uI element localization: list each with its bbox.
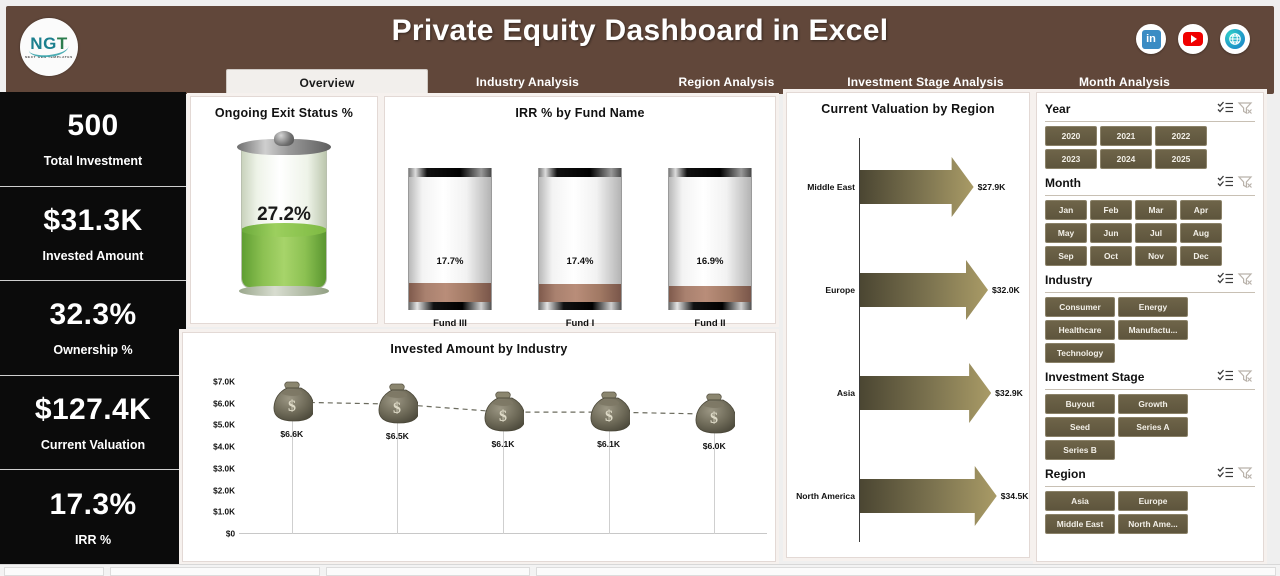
svg-text:$: $ — [710, 410, 718, 427]
kpi-value: $127.4K — [35, 393, 151, 427]
region-value-label: $34.5K — [1001, 491, 1029, 501]
slicer-divider — [1045, 121, 1255, 122]
clear-filter-icon[interactable] — [1237, 369, 1255, 385]
kpi-label: Current Valuation — [41, 438, 145, 452]
chart-irr-by-fund: IRR % by Fund Name 17.7%Fund III17.4%Fun… — [384, 96, 776, 324]
globe-icon — [1225, 29, 1245, 49]
slicer-item[interactable]: Buyout — [1045, 394, 1115, 414]
y-axis-tick-label: $4.0K — [213, 443, 235, 452]
slicer-item[interactable]: Aug — [1180, 223, 1222, 243]
slicer-item[interactable]: Sep — [1045, 246, 1087, 266]
slicer-title: Year — [1045, 102, 1215, 116]
slicer-item[interactable]: 2024 — [1100, 149, 1152, 169]
region-bar-row: North America$34.5K — [787, 447, 1029, 545]
slicer-item[interactable]: Series A — [1118, 417, 1188, 437]
website-button[interactable] — [1220, 24, 1250, 54]
slicer-title: Investment Stage — [1045, 370, 1215, 384]
slicer-item[interactable]: Energy — [1118, 297, 1188, 317]
chart-ongoing-exit-status: Ongoing Exit Status % 27.2% — [190, 96, 378, 324]
strip-cell — [110, 567, 320, 576]
slicer-item[interactable]: Feb — [1090, 200, 1132, 220]
multi-select-icon[interactable] — [1217, 369, 1235, 385]
page-title: Private Equity Dashboard in Excel — [6, 14, 1274, 48]
youtube-button[interactable] — [1178, 24, 1208, 54]
slicer-divider — [1045, 486, 1255, 487]
svg-text:$: $ — [499, 408, 507, 425]
strip-cell — [4, 567, 104, 576]
slicer-item[interactable]: Asia — [1045, 491, 1115, 511]
slicer-item[interactable]: North Ame... — [1118, 514, 1188, 534]
kpi-value: 500 — [67, 109, 118, 143]
region-value-label: $27.9K — [978, 182, 1006, 192]
money-bag-icon: $ — [271, 379, 313, 425]
region-category-label: Middle East — [787, 182, 855, 192]
kpi-ownership-pct: 32.3% Ownership % — [0, 281, 186, 376]
region-arrow-shape — [860, 363, 991, 423]
chart-title: Ongoing Exit Status % — [191, 97, 377, 120]
kpi-total-investment: 500 Total Investment — [0, 92, 186, 187]
chart-title: Invested Amount by Industry — [183, 333, 775, 356]
kpi-label: Total Investment — [44, 154, 142, 168]
data-point-value-label: $6.1K — [492, 439, 515, 449]
region-category-label: Europe — [787, 285, 855, 295]
cylinder-fill — [539, 284, 621, 302]
chart-current-valuation-by-region: Current Valuation by Region Middle East$… — [786, 92, 1030, 558]
slicer-item[interactable]: Jan — [1045, 200, 1087, 220]
kpi-value: 32.3% — [49, 298, 136, 332]
cylinder-top-icon — [669, 168, 751, 177]
slicer-header: Region — [1045, 464, 1255, 484]
slicer-item[interactable]: Technology — [1045, 343, 1115, 363]
money-bag-icon: $ — [376, 381, 418, 427]
slicer-item[interactable]: Dec — [1180, 246, 1222, 266]
dashboard-root: NGT NEXT GEN TEMPLATES Private Equity Da… — [0, 0, 1280, 576]
money-bag-icon: $ — [588, 389, 630, 435]
region-value-label: $32.0K — [992, 285, 1020, 295]
battery-gauge: 27.2% — [191, 120, 377, 296]
cylinder-bar: 17.4%Fund I — [538, 168, 622, 329]
slicer-item[interactable]: Growth — [1118, 394, 1188, 414]
slicer-items: JanFebMarAprMayJunJulAugSepOctNovDec — [1045, 200, 1255, 266]
region-bar-row: Europe$32.0K — [787, 241, 1029, 339]
cylinder-series: 17.7%Fund III17.4%Fund I16.9%Fund II — [385, 168, 775, 329]
cylinder-category-label: Fund II — [668, 318, 752, 329]
cylinder-bottom-icon — [539, 302, 621, 310]
slicer-investment-stage[interactable]: Investment StageBuyoutGrowthSeedSeries A… — [1045, 367, 1255, 460]
kpi-value: $31.3K — [43, 204, 142, 238]
cylinder-top-icon — [539, 168, 621, 177]
data-point-value-label: $6.0K — [703, 441, 726, 451]
tab-overview[interactable]: Overview — [226, 69, 428, 96]
slicer-header: Year — [1045, 99, 1255, 119]
y-axis-tick-label: $1.0K — [213, 508, 235, 517]
linkedin-button[interactable]: in — [1136, 24, 1166, 54]
kpi-column: 500 Total Investment $31.3K Invested Amo… — [0, 92, 186, 564]
slicer-item[interactable]: 2021 — [1100, 126, 1152, 146]
cylinder-fill — [409, 283, 491, 302]
clear-filter-icon[interactable] — [1237, 101, 1255, 117]
y-axis-tick-label: $7.0K — [213, 378, 235, 387]
svg-text:$: $ — [393, 400, 401, 417]
chart-title: IRR % by Fund Name — [385, 97, 775, 120]
multi-select-icon[interactable] — [1217, 466, 1235, 482]
cylinder-shape: 17.7% — [408, 168, 492, 310]
slicer-title: Month — [1045, 176, 1215, 190]
excel-status-strip — [0, 564, 1280, 576]
cylinder-bar: 17.7%Fund III — [408, 168, 492, 329]
slicer-item[interactable]: Mar — [1135, 200, 1177, 220]
y-axis-tick-label: $5.0K — [213, 421, 235, 430]
slicer-item[interactable]: Series B — [1045, 440, 1115, 460]
battery-knob-icon — [274, 131, 294, 146]
svg-text:$: $ — [605, 408, 613, 425]
chart-invested-amount-by-industry: Invested Amount by Industry $0$1.0K$2.0K… — [182, 332, 776, 562]
cylinder-bottom-icon — [409, 302, 491, 310]
slicer-year[interactable]: Year202020212022202320242025 — [1045, 99, 1255, 169]
slicer-items: 202020212022202320242025 — [1045, 126, 1255, 169]
slicer-item[interactable]: Healthcare — [1045, 320, 1115, 340]
slicer-header: Investment Stage — [1045, 367, 1255, 387]
data-point-value-label: $6.1K — [597, 439, 620, 449]
cylinder-value-label: 17.4% — [539, 256, 621, 267]
cylinder-shape: 16.9% — [668, 168, 752, 310]
battery-value-label: 27.2% — [191, 204, 377, 226]
chart-title: Current Valuation by Region — [787, 93, 1029, 116]
clear-filter-icon[interactable] — [1237, 272, 1255, 288]
region-category-label: North America — [787, 491, 855, 501]
y-axis-tick-label: $0 — [226, 530, 235, 539]
slicer-item[interactable]: 2025 — [1155, 149, 1207, 169]
cylinder-bottom-icon — [669, 302, 751, 310]
slicer-title: Region — [1045, 467, 1215, 481]
youtube-icon — [1183, 32, 1203, 46]
slicer-panel[interactable]: Year202020212022202320242025MonthJanFebM… — [1036, 92, 1264, 562]
cylinder-top-icon — [409, 168, 491, 177]
slicer-items: BuyoutGrowthSeedSeries ASeries B — [1045, 394, 1255, 460]
slicer-divider — [1045, 195, 1255, 196]
cylinder-value-label: 17.7% — [409, 256, 491, 267]
slicer-industry[interactable]: IndustryConsumerEnergyHealthcareManufact… — [1045, 270, 1255, 363]
money-bag-icon: $ — [482, 389, 524, 435]
slicer-item[interactable]: Manufactu... — [1118, 320, 1188, 340]
linkedin-icon: in — [1142, 30, 1161, 49]
kpi-value: 17.3% — [49, 488, 136, 522]
kpi-invested-amount: $31.3K Invested Amount — [0, 187, 186, 282]
slicer-item[interactable]: Jul — [1135, 223, 1177, 243]
multi-select-icon[interactable] — [1217, 175, 1235, 191]
data-point-value-label: $6.5K — [386, 431, 409, 441]
tab-industry-analysis[interactable]: Industry Analysis — [428, 69, 627, 96]
strip-cell — [536, 567, 1276, 576]
cylinder-category-label: Fund III — [408, 318, 492, 329]
region-arrow-shape — [860, 466, 997, 526]
battery-base-icon — [239, 286, 329, 296]
slicer-item[interactable]: Middle East — [1045, 514, 1115, 534]
slicer-item[interactable]: 2022 — [1155, 126, 1207, 146]
slicer-item[interactable]: Jun — [1090, 223, 1132, 243]
region-bar-row: Asia$32.9K — [787, 344, 1029, 442]
money-bag-icon: $ — [693, 391, 735, 437]
slicer-header: Industry — [1045, 270, 1255, 290]
strip-cell — [326, 567, 530, 576]
kpi-label: Invested Amount — [43, 249, 144, 263]
region-bar-row: Middle East$27.9K — [787, 138, 1029, 236]
cylinder-shape: 17.4% — [538, 168, 622, 310]
svg-text:$: $ — [288, 398, 296, 415]
industry-chart: $0$1.0K$2.0K$3.0K$4.0K$5.0K$6.0K$7.0K $$… — [183, 356, 775, 554]
slicer-item[interactable]: May — [1045, 223, 1087, 243]
kpi-current-valuation: $127.4K Current Valuation — [0, 376, 186, 471]
cylinder-bar: 16.9%Fund II — [668, 168, 752, 329]
region-arrow-shape — [860, 157, 974, 217]
slicer-items: ConsumerEnergyHealthcareManufactu...Tech… — [1045, 297, 1255, 363]
kpi-irr-pct: 17.3% IRR % — [0, 470, 186, 564]
slicer-divider — [1045, 389, 1255, 390]
kpi-label: IRR % — [75, 533, 111, 547]
multi-select-icon[interactable] — [1217, 272, 1235, 288]
slicer-item[interactable]: Seed — [1045, 417, 1115, 437]
battery-fill — [242, 229, 326, 287]
slicer-item[interactable]: 2020 — [1045, 126, 1097, 146]
slicer-items: AsiaEuropeMiddle EastNorth Ame... — [1045, 491, 1255, 534]
social-links: in — [1136, 24, 1250, 54]
cylinder-chart: 17.7%Fund III17.4%Fund I16.9%Fund II — [385, 120, 775, 315]
plot-area: $$6.6KConsumer$$6.5KTechnology$$6.1KManu… — [239, 382, 767, 534]
data-point-value-label: $6.6K — [280, 429, 303, 439]
y-axis-tick-label: $3.0K — [213, 464, 235, 473]
slicer-item[interactable]: 2023 — [1045, 149, 1097, 169]
region-value-label: $32.9K — [995, 388, 1023, 398]
slicer-item[interactable]: Oct — [1090, 246, 1132, 266]
slicer-item[interactable]: Apr — [1180, 200, 1222, 220]
slicer-title: Industry — [1045, 273, 1215, 287]
slicer-region[interactable]: RegionAsiaEuropeMiddle EastNorth Ame... — [1045, 464, 1255, 534]
clear-filter-icon[interactable] — [1237, 466, 1255, 482]
slicer-item[interactable]: Nov — [1135, 246, 1177, 266]
multi-select-icon[interactable] — [1217, 101, 1235, 117]
y-axis-tick-label: $6.0K — [213, 399, 235, 408]
region-arrow-chart: Middle East$27.9KEurope$32.0KAsia$32.9KN… — [787, 116, 1029, 554]
slicer-month[interactable]: MonthJanFebMarAprMayJunJulAugSepOctNovDe… — [1045, 173, 1255, 266]
dashboard-header: NGT NEXT GEN TEMPLATES Private Equity Da… — [6, 6, 1274, 94]
region-category-label: Asia — [787, 388, 855, 398]
slicer-header: Month — [1045, 173, 1255, 193]
clear-filter-icon[interactable] — [1237, 175, 1255, 191]
slicer-item[interactable]: Europe — [1118, 491, 1188, 511]
slicer-item[interactable]: Consumer — [1045, 297, 1115, 317]
region-arrow-shape — [860, 260, 988, 320]
y-axis-ticks: $0$1.0K$2.0K$3.0K$4.0K$5.0K$6.0K$7.0K — [191, 382, 235, 534]
y-axis-tick-label: $2.0K — [213, 486, 235, 495]
cylinder-value-label: 16.9% — [669, 256, 751, 267]
slicer-divider — [1045, 292, 1255, 293]
cylinder-category-label: Fund I — [538, 318, 622, 329]
kpi-label: Ownership % — [53, 343, 132, 357]
cylinder-fill — [669, 286, 751, 302]
